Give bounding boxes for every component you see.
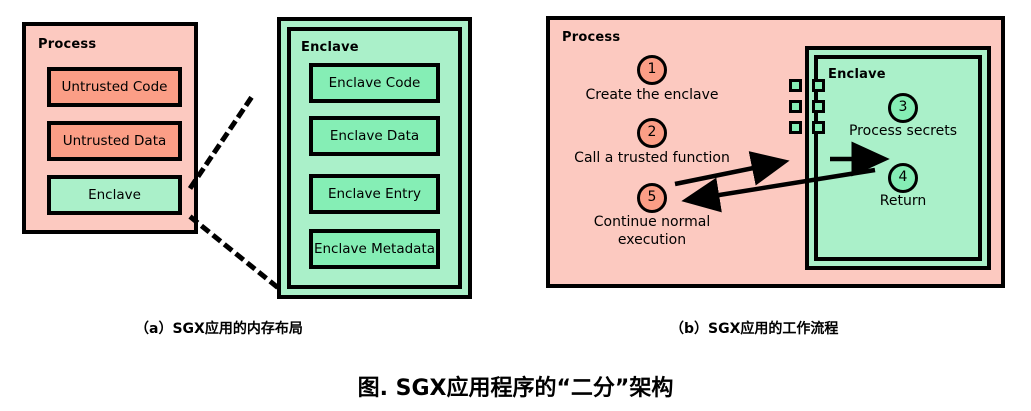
step-circle-2: 2 <box>637 118 667 148</box>
enclave-gate-square <box>812 121 825 134</box>
panel-a-enclave-entry-box: Enclave Entry <box>309 174 440 214</box>
panel-a-enclave-metadata-box: Enclave Metadata <box>309 229 440 269</box>
panel-a-enclave-detail-title: Enclave <box>301 40 359 55</box>
panel-a-enclave-data-box: Enclave Data <box>309 116 440 156</box>
step-label-2: Call a trusted function <box>561 149 743 167</box>
step-circle-5: 5 <box>637 183 667 213</box>
step-circle-1: 1 <box>637 55 667 85</box>
panel-a-caption: （a）SGX应用的内存布局 <box>135 318 303 338</box>
panel-a-untrusted-code-label: Untrusted Code <box>51 79 178 95</box>
enclave-gate-square <box>789 121 802 134</box>
enclave-gate-square <box>789 100 802 113</box>
panel-a-enclave-code-box: Enclave Code <box>309 63 440 103</box>
panel-a-untrusted-code-box: Untrusted Code <box>47 67 182 107</box>
step-label-1: Create the enclave <box>576 86 728 104</box>
step-label-3: Process secrets <box>837 122 969 140</box>
step-label-4: Return <box>848 192 958 210</box>
enclave-gate-square <box>812 100 825 113</box>
step-circle-3: 3 <box>888 93 918 123</box>
panel-a-enclave-box: Enclave <box>47 175 182 215</box>
panel-a-untrusted-data-label: Untrusted Data <box>51 133 178 149</box>
figure-main-caption: 图. SGX应用程序的“二分”架构 <box>0 370 1031 402</box>
zoom-connector-bottom <box>188 215 279 290</box>
enclave-gate-square <box>812 79 825 92</box>
panel-a-enclave-entry-label: Enclave Entry <box>313 186 436 202</box>
panel-b-enclave-inner: Enclave <box>814 55 982 261</box>
panel-a-enclave-metadata-label: Enclave Metadata <box>313 241 436 257</box>
panel-a-untrusted-data-box: Untrusted Data <box>47 121 182 161</box>
step-circle-4: 4 <box>888 163 918 193</box>
panel-a-enclave-code-label: Enclave Code <box>313 75 436 91</box>
panel-b-caption: （b）SGX应用的工作流程 <box>670 318 838 338</box>
step-label-5: Continue normal execution <box>576 213 728 249</box>
figure-canvas: Process Untrusted Code Untrusted Data En… <box>0 0 1031 411</box>
panel-b-process-title: Process <box>562 30 620 45</box>
panel-a-process-title: Process <box>38 37 96 52</box>
panel-a-enclave-data-label: Enclave Data <box>313 128 436 144</box>
panel-b-enclave-title: Enclave <box>828 67 886 82</box>
enclave-gate-square <box>789 79 802 92</box>
panel-a-enclave-label: Enclave <box>51 187 178 203</box>
